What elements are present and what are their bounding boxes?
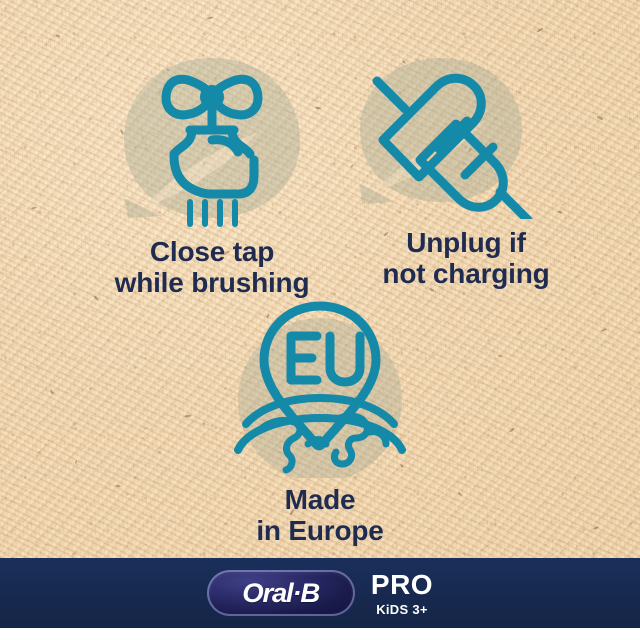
feature-label-made-in-europe: Made in Europe (190, 484, 450, 547)
feature-made-in-europe: Made in Europe (190, 288, 450, 547)
water-tap-icon (62, 28, 362, 228)
pro-kids-block: PRO KiDS 3+ (371, 571, 433, 616)
brand-bar: Oral·B PRO KiDS 3+ (0, 558, 640, 628)
product-feature-poster: Close tap while brushing (0, 0, 640, 640)
bottom-white-margin (0, 628, 640, 640)
eu-map-pin-globe-icon (190, 288, 450, 478)
pro-label: PRO (371, 571, 433, 599)
unplugged-plug-icon (336, 44, 546, 219)
feature-label-unplug: Unplug if not charging (336, 227, 596, 290)
kids-age-label: KiDS 3+ (376, 603, 428, 616)
feature-close-tap: Close tap while brushing (62, 28, 362, 299)
unplug-artwork (336, 44, 596, 219)
made-in-europe-artwork (190, 288, 450, 478)
close-tap-artwork (62, 28, 362, 228)
feature-unplug: Unplug if not charging (336, 44, 596, 290)
oral-b-logo: Oral·B (207, 570, 355, 616)
oral-b-wordmark: Oral·B (242, 578, 319, 609)
